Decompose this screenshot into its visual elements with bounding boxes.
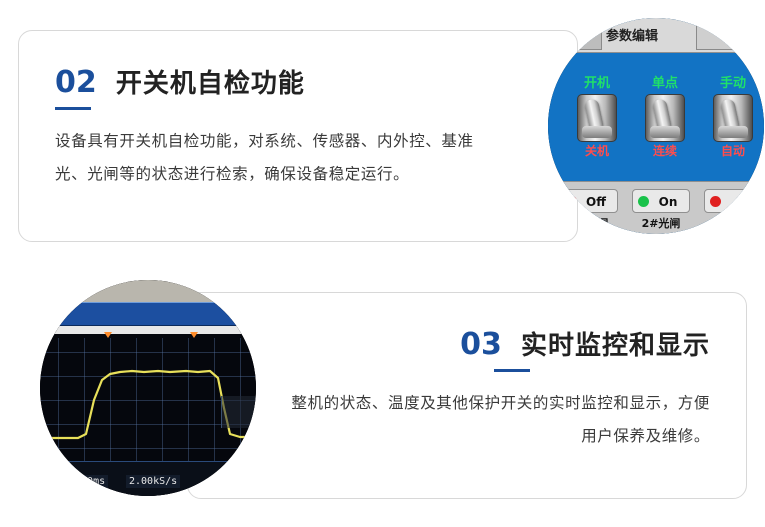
indicator-1-dot: [566, 196, 577, 207]
feature-card-03: 03 实时监控和显示 整机的状态、温度及其他保护开关的实时监控和显示，方便用户保…: [187, 292, 747, 499]
toggle-3-top-label: 手动: [704, 76, 762, 91]
indicator-2-dot: [638, 196, 649, 207]
timebase-label: 2.00ms: [66, 475, 108, 488]
control-panel-photo: 参数编辑 开机 关机 单点 连续 手动: [548, 18, 764, 234]
oscilloscope-graticule: [40, 338, 256, 462]
feature-02-number: 02: [55, 65, 97, 100]
sample-rate-label: 2.00kS/s: [126, 475, 180, 488]
toggle-switch-group-1: 开机 关机: [568, 76, 626, 158]
oscilloscope-highlight-bar: [50, 326, 246, 334]
oscilloscope-photo: 2.00ms 2.00kS/s: [40, 280, 256, 496]
indicator-1-caption: 1#光闸: [554, 215, 624, 231]
feature-03-number: 03: [460, 327, 502, 362]
feature-02-title: 开关机自检功能: [116, 63, 305, 100]
toggle-3-bottom-label: 自动: [704, 144, 762, 158]
indicator-bar: Off 1#光闸 On 2#光闸: [548, 181, 764, 234]
toggle-1-bottom-label: 关机: [568, 144, 626, 158]
oscilloscope-status-bar: 2.00ms 2.00kS/s: [40, 461, 256, 496]
oscilloscope-screen: 2.00ms 2.00kS/s: [40, 280, 256, 496]
indicator-shutter-2[interactable]: On: [632, 189, 690, 213]
toggle-2-top-label: 单点: [636, 76, 694, 91]
toggle-1-base: [582, 126, 612, 138]
control-panel-screen: 参数编辑 开机 关机 单点 连续 手动: [548, 18, 764, 234]
oscilloscope-side-menu: [221, 396, 256, 428]
control-panel-title-bar: 参数编辑: [548, 18, 764, 53]
indicator-shutter-1[interactable]: Off: [560, 189, 618, 213]
title-bar-tab-left: [568, 22, 602, 50]
toggle-switch-3[interactable]: [713, 94, 753, 142]
toggle-switch-1[interactable]: [577, 94, 617, 142]
toggle-2-base: [650, 126, 680, 138]
toggle-switch-2[interactable]: [645, 94, 685, 142]
toggle-switch-group-2: 单点 连续: [636, 76, 694, 158]
indicator-2-label: On: [659, 195, 678, 209]
oscilloscope-menu-bar: [40, 302, 256, 326]
indicator-2-caption: 2#光闸: [626, 215, 696, 231]
feature-03-body: 整机的状态、温度及其他保护开关的实时监控和显示，方便用户保养及维修。: [280, 387, 710, 453]
cursor-marker-icon: [190, 332, 198, 338]
feature-02-number-underline: [55, 107, 91, 110]
indicator-shutter-3[interactable]: [704, 189, 762, 213]
feature-03-title: 实时监控和显示: [521, 325, 710, 362]
toggle-1-top-label: 开机: [568, 76, 626, 91]
control-panel-window-title: 参数编辑: [606, 25, 658, 44]
feature-03-heading-row: 03 实时监控和显示: [460, 325, 710, 362]
toggle-switch-group-3: 手动 自动: [704, 76, 762, 158]
feature-card-02: 02 开关机自检功能 设备具有开关机自检功能，对系统、传感器、内外控、基准光、光…: [18, 30, 578, 242]
trigger-marker-icon: [104, 332, 112, 338]
toggle-3-base: [718, 126, 748, 138]
indicator-1-label: Off: [586, 195, 606, 209]
indicator-3-dot: [710, 196, 721, 207]
toggle-2-bottom-label: 连续: [636, 144, 694, 158]
title-bar-tab-right: [696, 22, 738, 50]
feature-02-heading-row: 02 开关机自检功能: [55, 63, 305, 100]
oscilloscope-top-bezel: [40, 280, 256, 302]
feature-03-number-underline: [494, 369, 530, 372]
feature-02-body: 设备具有开关机自检功能，对系统、传感器、内外控、基准光、光闸等的状态进行检索，确…: [55, 125, 475, 191]
